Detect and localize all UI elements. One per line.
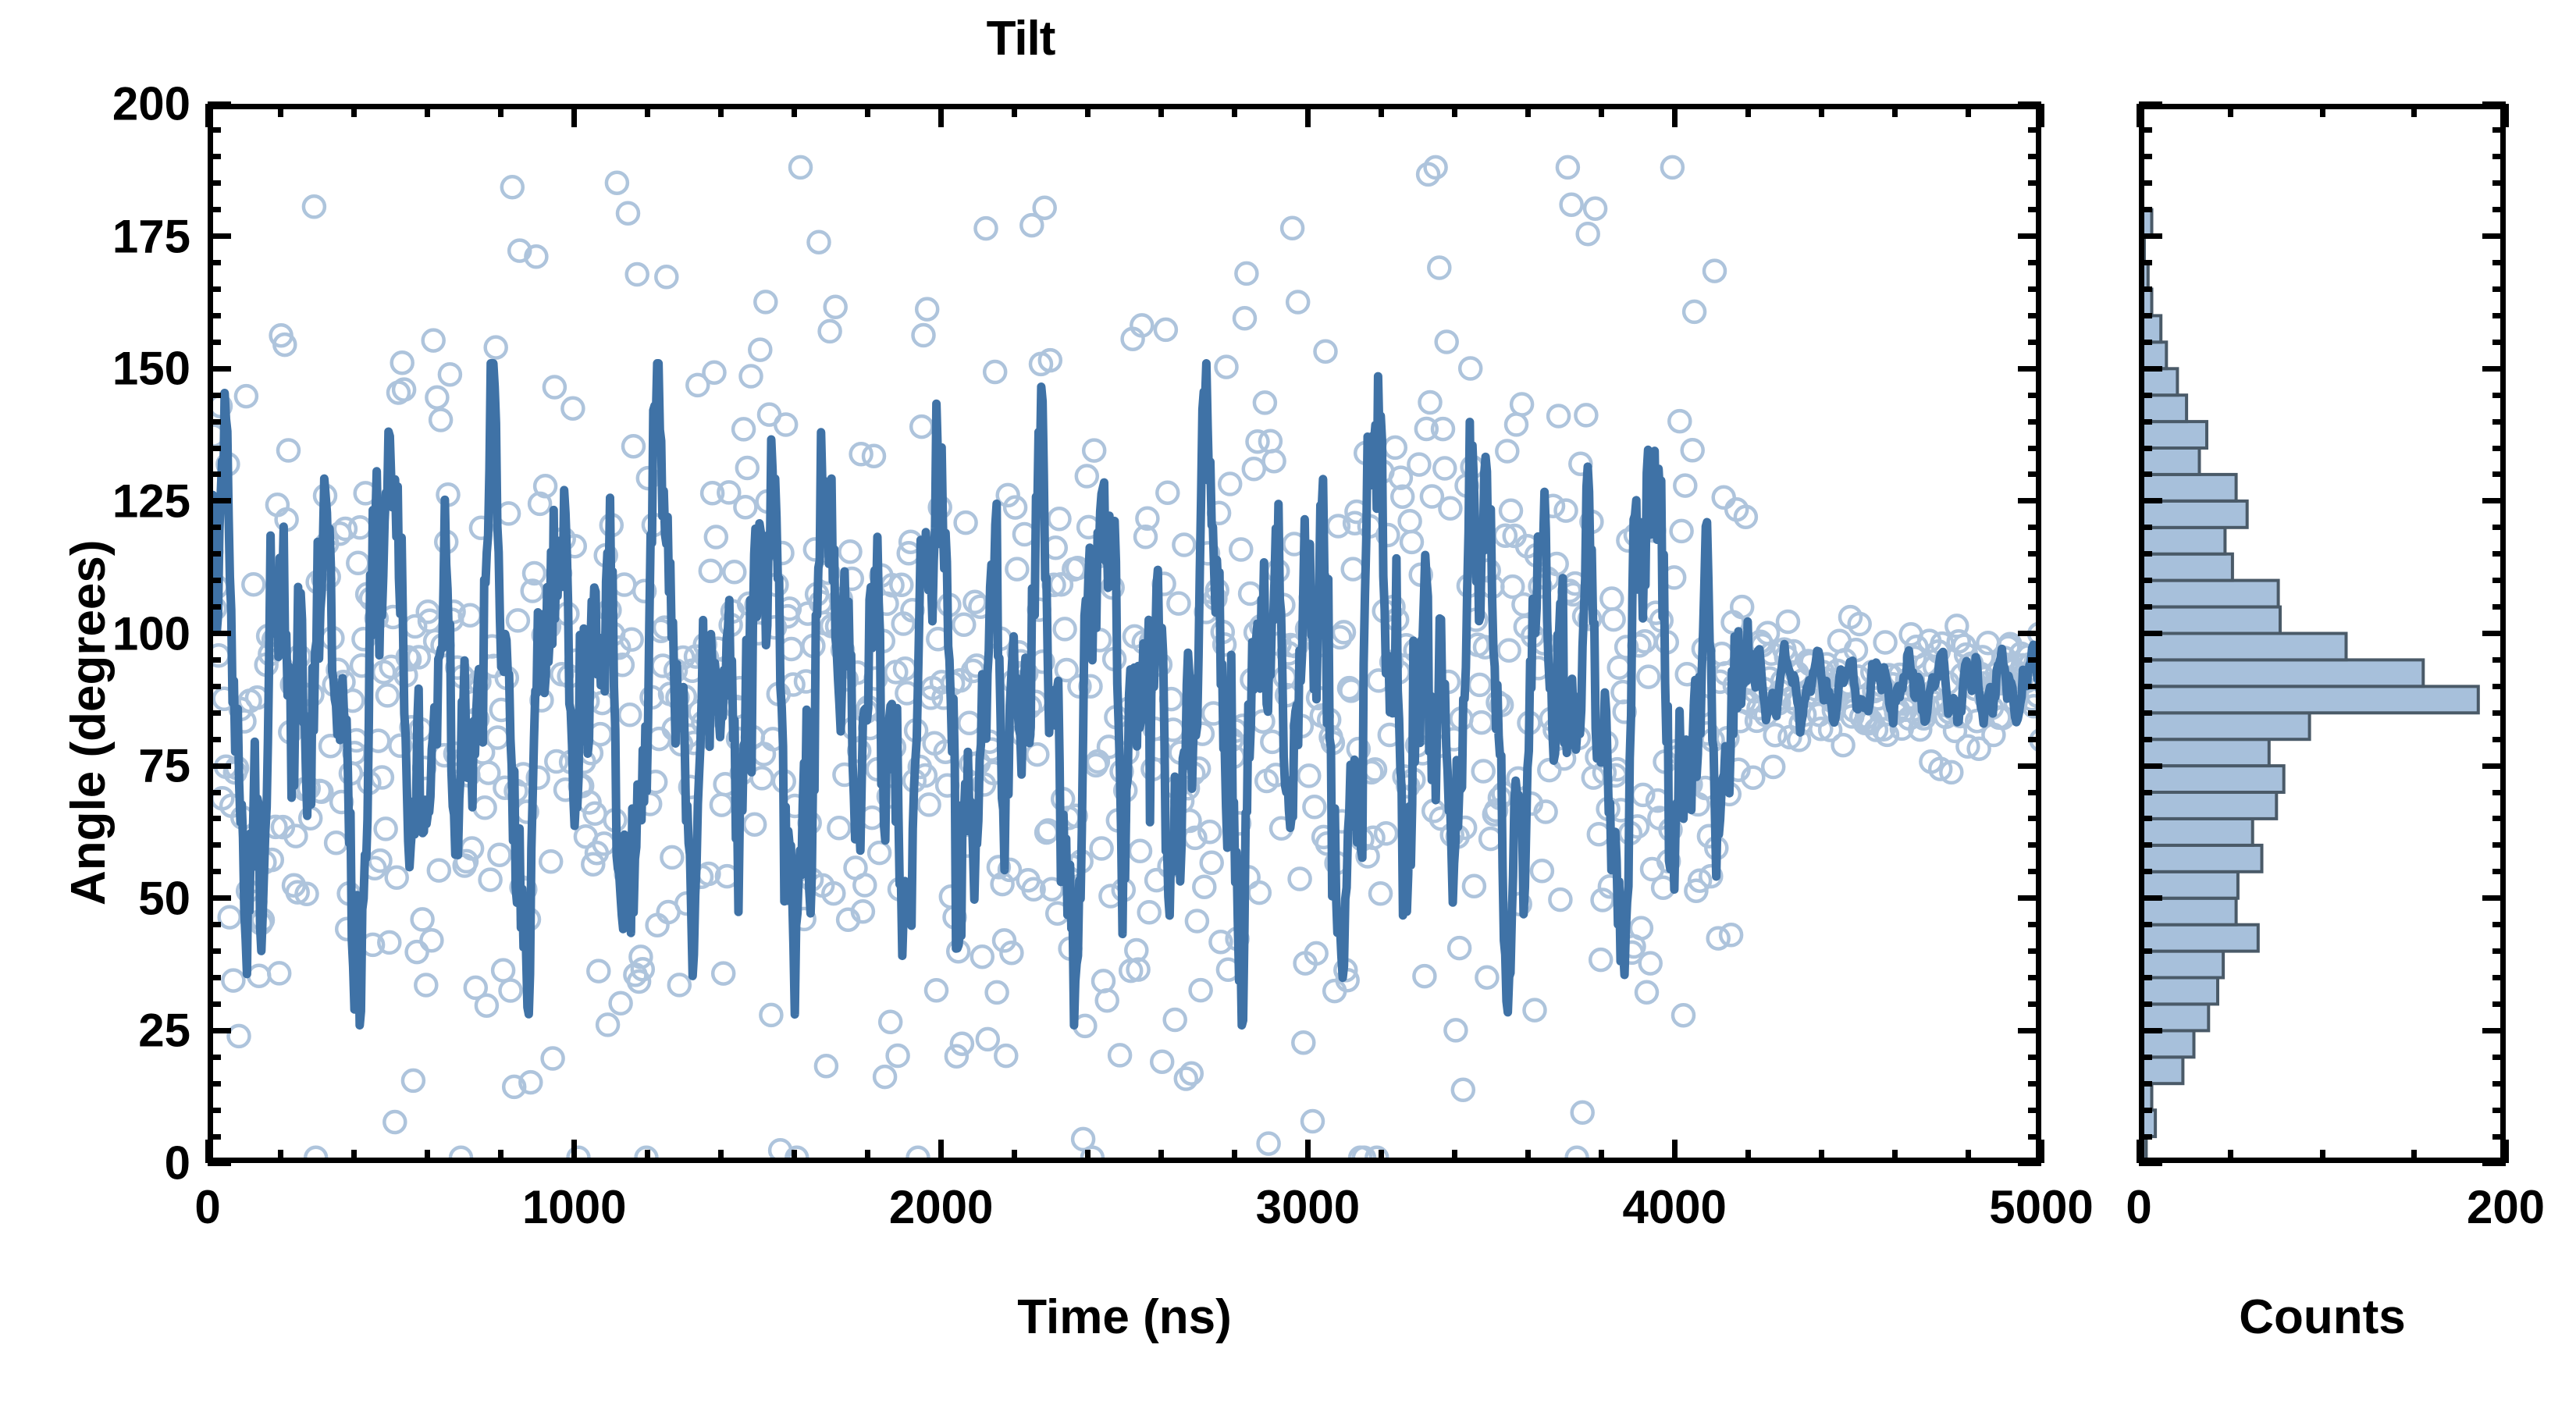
axis-tick — [2492, 975, 2506, 980]
axis-tick — [208, 737, 221, 742]
axis-tick — [2492, 790, 2506, 795]
axis-tick — [2028, 446, 2041, 451]
y-axis-title: Angle (degrees) — [61, 539, 116, 905]
axis-tick — [2492, 260, 2506, 265]
axis-tick — [2028, 1108, 2041, 1113]
axis-tick — [2137, 104, 2142, 127]
axis-tick — [351, 1150, 357, 1163]
axis-tick — [2018, 101, 2041, 107]
axis-tick — [1525, 104, 1531, 117]
histogram-bar — [2139, 368, 2177, 395]
axis-tick — [2228, 104, 2233, 117]
axis-tick — [2492, 127, 2506, 133]
axis-tick — [2139, 233, 2162, 239]
axis-tick — [2492, 657, 2506, 663]
axis-tick — [1305, 1140, 1311, 1163]
axis-tick — [1085, 104, 1091, 117]
axis-tick — [2492, 446, 2506, 451]
x-axis-title-main: Time (ns) — [208, 1289, 2041, 1345]
axis-tick — [2492, 393, 2506, 398]
running-average-line — [208, 364, 2041, 1026]
axis-tick — [2139, 790, 2152, 795]
axis-tick — [208, 948, 221, 954]
histogram-bar — [2139, 421, 2207, 448]
axis-tick — [571, 104, 577, 127]
axis-tick-label: 75 — [42, 739, 190, 793]
axis-tick — [2139, 1055, 2152, 1060]
axis-tick-label: 0 — [194, 1180, 220, 1234]
axis-tick — [208, 260, 221, 265]
axis-tick — [2139, 127, 2152, 133]
histogram-bar — [2139, 1083, 2152, 1110]
axis-tick — [2028, 578, 2041, 583]
axis-tick — [205, 1140, 211, 1163]
figure-root: Tilt Angle (degrees) Time (ns) Counts 01… — [0, 0, 2576, 1405]
axis-tick — [2028, 604, 2041, 610]
axis-tick — [208, 498, 231, 503]
axis-tick — [2028, 471, 2041, 477]
axis-tick — [2139, 340, 2152, 345]
axis-tick — [1452, 1150, 1457, 1163]
axis-tick — [208, 631, 231, 636]
axis-tick — [208, 763, 231, 769]
axis-tick — [2139, 948, 2152, 954]
axis-tick — [2492, 922, 2506, 927]
axis-tick — [2482, 366, 2506, 372]
axis-tick — [2139, 763, 2162, 769]
axis-tick — [2320, 1150, 2325, 1163]
axis-tick — [208, 710, 221, 716]
axis-tick — [1379, 104, 1384, 117]
axis-tick — [208, 101, 231, 107]
histogram-bar — [2139, 1110, 2155, 1136]
scatter-canvas — [208, 104, 2041, 1163]
axis-tick — [2411, 104, 2417, 117]
axis-tick — [208, 816, 221, 821]
axis-tick — [2028, 710, 2041, 716]
axis-tick — [1232, 1150, 1237, 1163]
axis-tick — [208, 393, 221, 398]
axis-tick — [1966, 1150, 1971, 1163]
axis-tick-label: 150 — [42, 342, 190, 396]
axis-tick — [208, 154, 221, 159]
axis-tick — [2028, 657, 2041, 663]
axis-tick — [2492, 1081, 2506, 1087]
axis-tick — [208, 790, 221, 795]
axis-tick — [1525, 1150, 1531, 1163]
histogram-bar — [2139, 819, 2253, 845]
axis-tick — [2139, 684, 2152, 689]
x-axis-title-hist: Counts — [2139, 1289, 2506, 1345]
axis-tick — [1379, 1150, 1384, 1163]
axis-tick — [2028, 1134, 2041, 1140]
axis-tick — [2139, 1108, 2152, 1113]
axis-tick — [208, 1001, 221, 1007]
axis-tick — [2492, 1001, 2506, 1007]
axis-tick — [2028, 1055, 2041, 1060]
axis-tick — [2028, 525, 2041, 530]
axis-tick — [1599, 104, 1604, 117]
axis-tick — [208, 471, 221, 477]
axis-tick-label: 2000 — [889, 1180, 993, 1234]
axis-tick — [2139, 207, 2152, 212]
axis-tick — [208, 1108, 221, 1113]
axis-tick — [208, 842, 221, 848]
axis-tick — [208, 419, 221, 425]
axis-tick — [2028, 419, 2041, 425]
axis-tick — [792, 1150, 797, 1163]
histogram-bar — [2139, 263, 2148, 290]
axis-tick — [718, 1150, 724, 1163]
axis-tick — [2028, 922, 2041, 927]
axis-tick — [2492, 180, 2506, 186]
axis-tick — [2139, 525, 2152, 530]
axis-tick — [1672, 104, 1678, 127]
axis-tick-label: 1000 — [522, 1180, 626, 1234]
axis-tick — [2139, 710, 2152, 716]
axis-tick — [208, 684, 221, 689]
axis-tick — [208, 1134, 221, 1140]
histogram-bar — [2139, 925, 2258, 951]
axis-tick — [208, 446, 221, 451]
axis-tick — [2139, 471, 2152, 477]
histogram-bar — [2139, 475, 2236, 501]
histogram-bar — [2139, 872, 2238, 898]
axis-tick — [208, 975, 221, 980]
axis-tick — [2139, 313, 2152, 318]
axis-tick-label: 0 — [42, 1136, 190, 1190]
axis-tick — [1158, 104, 1164, 117]
axis-tick — [1745, 1150, 1751, 1163]
axis-tick — [2018, 763, 2041, 769]
histogram-bar — [2139, 978, 2218, 1005]
histogram-bar — [2139, 951, 2223, 978]
axis-tick — [2482, 498, 2506, 503]
axis-tick — [2028, 790, 2041, 795]
axis-tick — [2018, 366, 2041, 372]
axis-tick — [1819, 104, 1824, 117]
histogram-bar — [2139, 183, 2140, 210]
axis-tick — [2482, 895, 2506, 901]
axis-tick — [1819, 1150, 1824, 1163]
axis-tick — [425, 1150, 430, 1163]
axis-tick-label: 0 — [2126, 1180, 2151, 1234]
histogram-bar — [2139, 237, 2144, 263]
axis-tick — [2139, 260, 2152, 265]
axis-tick — [2139, 1134, 2152, 1140]
histogram-bar — [2139, 581, 2279, 607]
axis-tick — [208, 578, 221, 583]
axis-tick — [208, 922, 221, 927]
axis-tick — [2028, 313, 2041, 318]
axis-tick — [2018, 1161, 2041, 1166]
axis-tick — [2492, 551, 2506, 557]
axis-tick — [2028, 207, 2041, 212]
histogram-bar — [2139, 210, 2152, 237]
axis-tick — [2492, 1055, 2506, 1060]
axis-tick — [2139, 551, 2152, 557]
axis-tick — [2320, 104, 2325, 117]
axis-tick — [2028, 1001, 2041, 1007]
axis-tick — [2139, 657, 2152, 663]
histogram-bar — [2139, 739, 2269, 766]
main-scatter-plot — [208, 104, 2041, 1163]
axis-tick — [1232, 104, 1237, 117]
axis-tick — [208, 1028, 231, 1033]
axis-tick — [2028, 260, 2041, 265]
axis-tick — [2492, 842, 2506, 848]
histogram-bar — [2139, 634, 2347, 660]
axis-tick — [2028, 975, 2041, 980]
axis-tick — [208, 366, 231, 372]
axis-tick — [2492, 154, 2506, 159]
histogram-bar — [2139, 660, 2423, 686]
axis-tick — [208, 551, 221, 557]
axis-tick — [2492, 1108, 2506, 1113]
axis-tick — [1672, 1140, 1678, 1163]
axis-tick — [1452, 104, 1457, 117]
axis-tick — [865, 104, 870, 117]
axis-tick — [2139, 286, 2152, 292]
axis-tick — [1892, 1150, 1898, 1163]
axis-tick — [208, 180, 221, 186]
axis-tick — [278, 104, 283, 117]
axis-tick — [2028, 551, 2041, 557]
histogram-bar — [2139, 1057, 2183, 1083]
axis-tick — [2482, 1161, 2506, 1166]
axis-tick — [2139, 154, 2152, 159]
axis-tick — [2503, 104, 2509, 127]
axis-tick — [1158, 1150, 1164, 1163]
axis-tick — [1966, 104, 1971, 117]
axis-tick — [2028, 127, 2041, 133]
axis-tick — [718, 104, 724, 117]
axis-tick — [2492, 525, 2506, 530]
axis-tick — [498, 104, 503, 117]
axis-tick — [1012, 1150, 1017, 1163]
axis-tick — [2139, 842, 2152, 848]
axis-tick — [2139, 446, 2152, 451]
axis-tick — [208, 233, 231, 239]
histogram-bar — [2139, 792, 2276, 819]
axis-tick-label: 100 — [42, 606, 190, 660]
axis-tick — [938, 104, 944, 127]
axis-tick — [208, 286, 221, 292]
axis-tick-label: 200 — [2467, 1180, 2545, 1234]
axis-tick — [645, 104, 650, 117]
axis-tick — [208, 869, 221, 874]
axis-tick — [2139, 895, 2162, 901]
axis-tick — [351, 104, 357, 117]
axis-tick-label: 50 — [42, 871, 190, 925]
axis-tick — [2028, 684, 2041, 689]
axis-tick — [2492, 340, 2506, 345]
axis-tick — [2028, 869, 2041, 874]
axis-tick — [2492, 1134, 2506, 1140]
axis-tick — [208, 340, 221, 345]
histogram-bar — [2139, 528, 2225, 554]
axis-tick — [2039, 104, 2044, 127]
axis-tick — [2139, 869, 2152, 874]
axis-tick — [2028, 842, 2041, 848]
axis-tick — [2018, 1028, 2041, 1033]
histogram-bar — [2139, 1030, 2194, 1057]
axis-tick — [208, 207, 221, 212]
axis-tick — [2139, 1001, 2152, 1007]
histogram-bar — [2139, 395, 2186, 421]
axis-tick — [2028, 816, 2041, 821]
axis-tick — [2039, 1140, 2044, 1163]
axis-tick-label: 4000 — [1622, 1180, 1726, 1234]
axis-tick-label: 5000 — [1989, 1180, 2093, 1234]
axis-tick — [2411, 1150, 2417, 1163]
axis-tick — [2228, 1150, 2233, 1163]
axis-tick — [2028, 286, 2041, 292]
axis-tick — [208, 1161, 231, 1166]
axis-tick — [2492, 684, 2506, 689]
axis-tick — [571, 1140, 577, 1163]
axis-tick — [2139, 419, 2152, 425]
histogram-bar — [2139, 290, 2152, 316]
axis-tick — [2139, 393, 2152, 398]
axis-tick — [2139, 498, 2162, 503]
axis-tick — [2492, 313, 2506, 318]
histogram-bar — [2139, 1005, 2208, 1031]
axis-tick — [2137, 1140, 2142, 1163]
axis-tick — [2139, 1161, 2162, 1166]
axis-tick-label: 125 — [42, 474, 190, 528]
axis-tick — [2482, 1028, 2506, 1033]
histogram-bar — [2139, 448, 2200, 475]
axis-tick — [1892, 104, 1898, 117]
axis-tick — [2018, 631, 2041, 636]
histogram-bar — [2139, 713, 2310, 739]
axis-tick — [2492, 578, 2506, 583]
axis-tick — [938, 1140, 944, 1163]
axis-tick — [645, 1150, 650, 1163]
histogram-bar — [2139, 766, 2284, 792]
axis-tick — [2492, 604, 2506, 610]
axis-tick — [2028, 948, 2041, 954]
axis-tick — [208, 525, 221, 530]
axis-tick — [2492, 286, 2506, 292]
axis-tick — [208, 657, 221, 663]
axis-tick — [425, 104, 430, 117]
axis-tick — [2139, 578, 2152, 583]
axis-tick — [208, 895, 231, 901]
histogram-bar — [2139, 686, 2478, 713]
axis-tick — [2139, 1028, 2162, 1033]
axis-tick — [2028, 393, 2041, 398]
axis-tick — [2018, 233, 2041, 239]
axis-tick — [2139, 101, 2162, 107]
axis-tick — [205, 104, 211, 127]
axis-tick — [2139, 631, 2162, 636]
page-title: Tilt — [0, 11, 2041, 66]
axis-tick — [208, 604, 221, 610]
histogram-bar — [2139, 501, 2247, 528]
axis-tick — [208, 1081, 221, 1087]
axis-tick — [208, 127, 221, 133]
axis-tick — [2482, 233, 2506, 239]
axis-tick — [2139, 922, 2152, 927]
axis-tick — [2492, 710, 2506, 716]
axis-tick — [2492, 207, 2506, 212]
axis-tick — [2482, 631, 2506, 636]
histogram-bar — [2139, 342, 2166, 368]
axis-tick — [792, 104, 797, 117]
axis-tick — [2492, 471, 2506, 477]
axis-tick-label: 175 — [42, 209, 190, 263]
axis-tick — [2028, 737, 2041, 742]
axis-tick — [2028, 154, 2041, 159]
axis-tick — [1305, 104, 1311, 127]
histogram-canvas — [2139, 104, 2506, 1163]
axis-tick — [2139, 366, 2162, 372]
axis-tick — [2139, 604, 2152, 610]
histogram-bar — [2139, 315, 2161, 342]
axis-tick-label: 25 — [42, 1004, 190, 1058]
axis-tick — [1085, 1150, 1091, 1163]
axis-tick — [2492, 419, 2506, 425]
axis-tick — [2139, 737, 2152, 742]
axis-tick — [2482, 763, 2506, 769]
axis-tick — [2028, 340, 2041, 345]
axis-tick — [2492, 948, 2506, 954]
axis-tick — [2492, 816, 2506, 821]
axis-tick — [1599, 1150, 1604, 1163]
axis-tick — [2018, 895, 2041, 901]
axis-tick — [2028, 1081, 2041, 1087]
axis-tick — [2139, 975, 2152, 980]
axis-tick — [2492, 737, 2506, 742]
axis-tick — [1012, 104, 1017, 117]
axis-tick — [498, 1150, 503, 1163]
axis-tick — [208, 313, 221, 318]
axis-tick — [2482, 101, 2506, 107]
axis-tick — [1745, 104, 1751, 117]
axis-tick — [278, 1150, 283, 1163]
marginal-histogram — [2139, 104, 2506, 1163]
axis-tick — [2139, 1081, 2152, 1087]
axis-tick — [2503, 1140, 2509, 1163]
histogram-bar — [2139, 845, 2262, 872]
axis-tick — [208, 1055, 221, 1060]
axis-tick — [2139, 180, 2152, 186]
axis-tick — [2139, 816, 2152, 821]
axis-tick — [2028, 180, 2041, 186]
histogram-bar — [2139, 898, 2236, 925]
histogram-bar — [2139, 554, 2233, 581]
axis-tick-label: 200 — [42, 77, 190, 131]
axis-tick-label: 3000 — [1256, 1180, 1360, 1234]
axis-tick — [2492, 869, 2506, 874]
axis-tick — [2018, 498, 2041, 503]
histogram-bar — [2139, 607, 2280, 634]
axis-tick — [865, 1150, 870, 1163]
